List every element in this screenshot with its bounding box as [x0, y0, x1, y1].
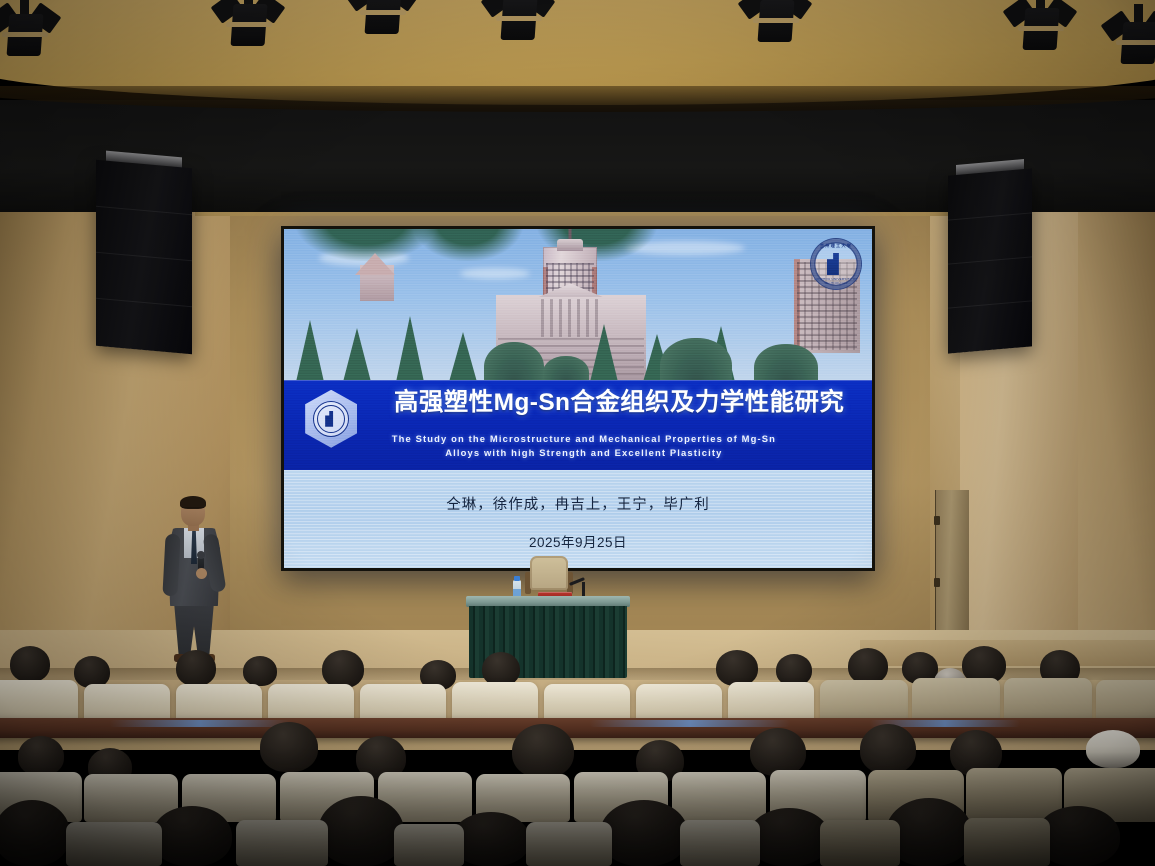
glasses-icon	[182, 507, 204, 512]
slide-date: 2025年9月25日	[284, 531, 872, 551]
auditorium-seat[interactable]	[672, 772, 766, 822]
audience-head	[318, 796, 404, 866]
audience-head	[176, 650, 216, 686]
auditorium-seat[interactable]	[236, 820, 328, 866]
line-array-speaker-right	[948, 168, 1032, 353]
stage-light-icon	[352, 0, 414, 42]
stage-light-icon	[218, 0, 280, 54]
stage-light-icon	[745, 0, 807, 50]
audience-head	[600, 800, 688, 866]
stage-light-icon	[1108, 14, 1155, 72]
auditorium-seat[interactable]	[680, 820, 760, 866]
audience-head	[322, 650, 364, 688]
auditorium-seat[interactable]	[526, 822, 612, 866]
audience-head	[750, 728, 806, 776]
audience-head	[152, 806, 232, 866]
slide-title: 高强塑性Mg-Sn合金组织及力学性能研究	[384, 389, 854, 416]
audience-head	[716, 650, 758, 686]
campus-photo: 兰州理工大学 LANZHOU UNIVERSITY OF TECHNOLOGY	[284, 229, 872, 380]
auditorium-seat[interactable]	[820, 820, 900, 866]
auditorium-seat[interactable]	[394, 824, 464, 866]
slide-subtitle-line2: Alloys with high Strength and Excellent …	[445, 447, 722, 458]
audience-head	[482, 652, 520, 686]
led-presentation-screen[interactable]: 兰州理工大学 LANZHOU UNIVERSITY OF TECHNOLOGY …	[281, 226, 875, 571]
audience-head	[260, 722, 318, 772]
seal-cn-text: 兰州理工大学	[811, 243, 861, 249]
audience-head	[18, 736, 64, 776]
slide-title-band: 高强塑性Mg-Sn合金组织及力学性能研究 The Study on the Mi…	[284, 380, 872, 470]
audience-head	[512, 724, 574, 778]
presenter	[160, 498, 228, 668]
stage-light-icon	[0, 6, 56, 64]
auditorium-seat[interactable]	[66, 822, 162, 866]
stage-light-icon	[1010, 0, 1072, 58]
university-seal-icon: 兰州理工大学 LANZHOU UNIVERSITY OF TECHNOLOGY	[810, 238, 862, 290]
auditorium-seat[interactable]	[0, 680, 78, 722]
auditorium-seat[interactable]	[964, 818, 1050, 866]
audience-head	[848, 648, 888, 684]
audience-head	[860, 724, 916, 774]
stage-light-icon	[488, 0, 550, 48]
slide-subtitle-line1: The Study on the Microstructure and Mech…	[392, 433, 776, 444]
auditorium-scene: 兰州理工大学 LANZHOU UNIVERSITY OF TECHNOLOGY …	[0, 0, 1155, 866]
seal-en-text: LANZHOU UNIVERSITY OF TECHNOLOGY	[811, 277, 861, 285]
audience-head	[243, 656, 277, 686]
slide-info-band: 仝琳，徐作成，冉吉上，王宁，毕广利 2025年9月25日	[284, 470, 872, 568]
audience-head	[10, 646, 50, 682]
slide-content: 兰州理工大学 LANZHOU UNIVERSITY OF TECHNOLOGY …	[284, 229, 872, 568]
audience-head	[0, 800, 70, 866]
line-array-speaker-left	[96, 160, 192, 354]
slide-subtitle: The Study on the Microstructure and Mech…	[325, 432, 842, 460]
audience-head	[748, 808, 830, 866]
slide-authors: 仝琳，徐作成，冉吉上，王宁，毕广利	[284, 493, 872, 514]
audience-head-with-cap	[1086, 730, 1140, 768]
